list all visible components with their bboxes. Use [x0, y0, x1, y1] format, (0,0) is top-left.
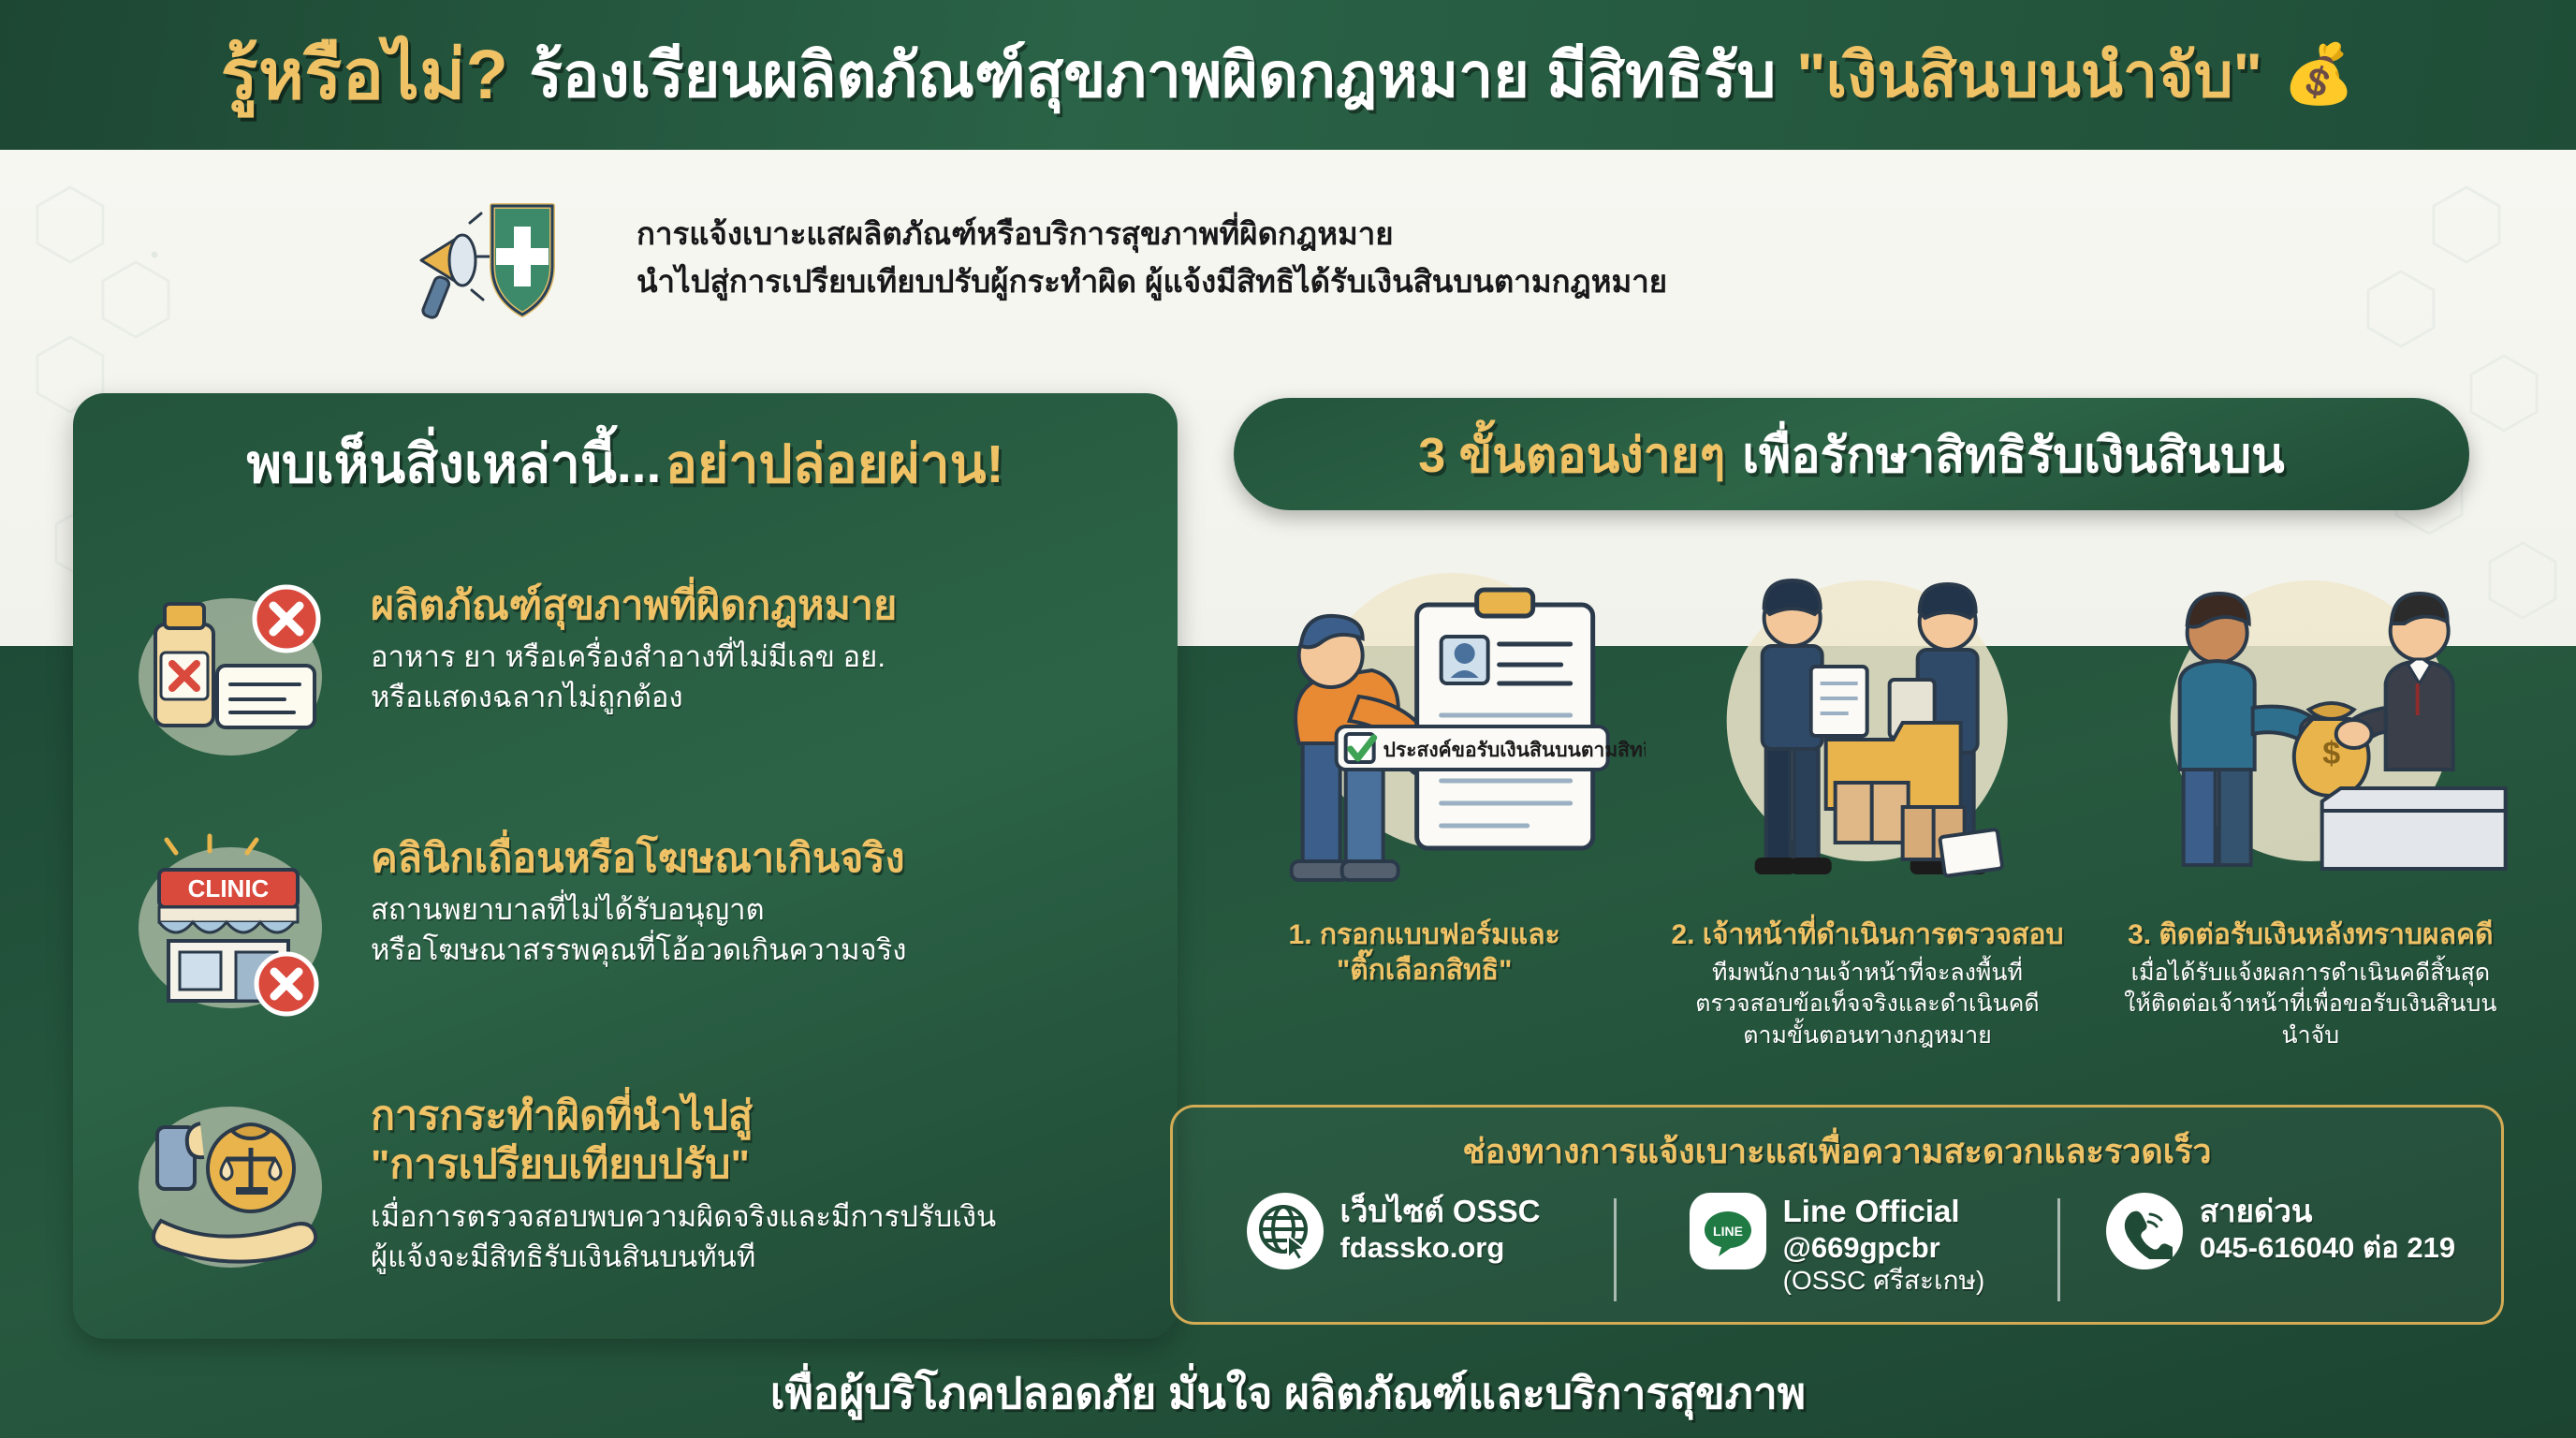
- intro-section: การแจ้งเบาะแสผลิตภัณฑ์หรือบริการสุขภาพที…: [402, 187, 2181, 328]
- contact-hotline[interactable]: สายด่วน 045-616040 ต่อ 219: [2060, 1193, 2501, 1269]
- step-3-body-line-2: ให้ติดต่อเจ้าหน้าที่เพื่อขอรับเงินสินบนน…: [2089, 989, 2532, 1052]
- line-app-icon: LINE: [1690, 1193, 1766, 1269]
- left-title-white: พบเห็นสิ่งเหล่านี้...: [246, 434, 661, 494]
- contact-hotline-text: สายด่วน 045-616040 ต่อ 219: [2200, 1193, 2455, 1265]
- money-bag-icon: 💰: [2283, 46, 2355, 104]
- issue-3-heading-line-1: การกระทำผิดที่นำไปสู่: [371, 1092, 1149, 1140]
- svg-text:LINE: LINE: [1713, 1224, 1743, 1239]
- steps-title-pill: 3 ขั้นตอนง่ายๆ เพื่อรักษาสิทธิรับเงินสิน…: [1234, 398, 2469, 510]
- issue-item-3: การกระทำผิดที่นำไปสู่ "การเปรียบเทียบปรั…: [120, 1086, 1149, 1283]
- header-highlight: รู้หรือไม่?: [221, 40, 508, 110]
- left-title-gold: อย่าปล่อยผ่าน!: [666, 434, 1004, 494]
- steps-row: ประสงค์ขอรับเงินสินบนตามสิทธิ 1. กรอกแบบ…: [1203, 543, 2532, 1086]
- issue-2-body: คลินิกเถื่อนหรือโฆษณาเกินจริง สถานพยาบาล…: [371, 829, 1149, 971]
- issue-3-heading-line-2: "การเปรียบเทียบปรับ": [371, 1140, 1149, 1189]
- contact-website-text: เว็บไซต์ OSSC fdassko.org: [1340, 1193, 1541, 1265]
- issue-item-1: ผลิตภัณฑ์สุขภาพที่ผิดกฎหมาย อาหาร ยา หรื…: [120, 576, 1149, 772]
- contact-line-note: (OSSC ศรีสะเกษ): [1783, 1265, 1985, 1297]
- contact-line-text: Line Official @669gpcbr (OSSC ศรีสะเกษ): [1783, 1193, 1985, 1296]
- contact-hotline-label: สายด่วน: [2200, 1193, 2455, 1230]
- issue-item-2: CLINIC คลินิกเถื่อนหรือโฆษณาเกินจริง สถา…: [120, 829, 1149, 1025]
- step-1-heading-line-1: 1. กรอกแบบฟอร์มและ: [1281, 917, 1568, 953]
- step-1-heading-line-2: "ติ๊กเลือกสิทธิ": [1329, 953, 1519, 989]
- step-3-heading-line-1: 3. ติดต่อรับเงินหลังทราบผลคดี: [2120, 917, 2500, 953]
- steps-title-gold: 3 ขั้นตอนง่ายๆ: [1418, 416, 1725, 493]
- left-panel-title: พบเห็นสิ่งเหล่านี้... อย่าปล่อยผ่าน!: [73, 438, 1178, 492]
- issue-1-heading: ผลิตภัณฑ์สุขภาพที่ผิดกฎหมาย: [371, 581, 1149, 630]
- intro-line-1: การแจ้งเบาะแสผลิตภัณฑ์หรือบริการสุขภาพที…: [637, 210, 1667, 257]
- issue-1-line-1: อาหาร ยา หรือเครื่องสำอางที่ไม่มีเลข อย.: [371, 638, 1149, 678]
- issue-1-body: ผลิตภัณฑ์สุขภาพที่ผิดกฎหมาย อาหาร ยา หรื…: [371, 576, 1149, 718]
- contact-website-value: fdassko.org: [1340, 1230, 1541, 1265]
- contact-website[interactable]: เว็บไซต์ OSSC fdassko.org: [1173, 1193, 1614, 1269]
- step-2-body-line-2: ตรวจสอบข้อเท็จจริงและดำเนินคดี: [1686, 989, 2048, 1020]
- issue-2-line-2: หรือโฆษณาสรรพคุณที่โอ้อวดเกินความจริง: [371, 931, 1149, 971]
- warning-signs-panel: พบเห็นสิ่งเหล่านี้... อย่าปล่อยผ่าน! ผลิ…: [73, 393, 1178, 1339]
- issue-2-line-1: สถานพยาบาลที่ไม่ได้รับอนุญาต: [371, 890, 1149, 931]
- issue-1-line-2: หรือแสดงฉลากไม่ถูกต้อง: [371, 678, 1149, 718]
- step-2-body-line-3: ตามขั้นตอนทางกฎหมาย: [1734, 1020, 2001, 1052]
- header-banner: รู้หรือไม่? ร้องเรียนผลิตภัณฑ์สุขภาพผิดก…: [0, 0, 2576, 150]
- contact-box-title: ช่องทางการแจ้งเบาะแสเพื่อความสะดวกและรวด…: [1173, 1124, 2501, 1178]
- issue-3-line-2: ผู้แจ้งจะมีสิทธิรับเงินสินบนทันที: [371, 1238, 1149, 1278]
- step-2: 2. เจ้าหน้าที่ดำเนินการตรวจสอบ ทีมพนักงา…: [1646, 543, 2088, 1086]
- officers-inspection-icon: [1646, 543, 2088, 917]
- medicine-bottles-x-icon: [120, 576, 344, 772]
- contact-hotline-value: 045-616040 ต่อ 219: [2200, 1230, 2455, 1265]
- illegal-clinic-icon: CLINIC: [120, 829, 344, 1025]
- issue-3-line-1: เมื่อการตรวจสอบพบความผิดจริงและมีการปรับ…: [371, 1197, 1149, 1238]
- header-title: ร้องเรียนผลิตภัณฑ์สุขภาพผิดกฎหมาย มีสิทธ…: [529, 44, 1776, 106]
- form-checkbox-label: ประสงค์ขอรับเงินสินบนตามสิทธิ: [1383, 739, 1647, 761]
- svg-text:CLINIC: CLINIC: [188, 874, 270, 902]
- hand-money-scale-icon: [120, 1086, 344, 1283]
- contact-items-row: เว็บไซต์ OSSC fdassko.org LINE Line Offi…: [1173, 1193, 2501, 1301]
- step-2-body-line-1: ทีมพนักงานเจ้าหน้าที่จะลงพื้นที่: [1703, 958, 2032, 990]
- money-handover-icon: $: [2089, 543, 2532, 917]
- steps-title-white: เพื่อรักษาสิทธิรับเงินสินบน: [1742, 416, 2284, 493]
- contact-website-label: เว็บไซต์ OSSC: [1340, 1193, 1541, 1230]
- issue-2-heading: คลินิกเถื่อนหรือโฆษณาเกินจริง: [371, 834, 1149, 883]
- contact-channels-box: ช่องทางการแจ้งเบาะแสเพื่อความสะดวกและรวด…: [1170, 1105, 2504, 1325]
- step-3: $ 3. ติดต่อรับเงินหลังทราบผลคดี เมื่อได้…: [2089, 543, 2532, 1086]
- contact-line-label: Line Official: [1783, 1193, 1985, 1230]
- step-1: ประสงค์ขอรับเงินสินบนตามสิทธิ 1. กรอกแบบ…: [1203, 543, 1646, 1086]
- megaphone-shield-icon: [402, 187, 599, 328]
- contact-line[interactable]: LINE Line Official @669gpcbr (OSSC ศรีสะ…: [1617, 1193, 2057, 1296]
- footer-banner: เพื่อผู้บริโภคปลอดภัย มั่นใจ ผลิตภัณฑ์แล…: [0, 1348, 2576, 1438]
- step-3-body-line-1: เมื่อได้รับแจ้งผลการดำเนินคดีสิ้นสุด: [2122, 958, 2499, 990]
- intro-text: การแจ้งเบาะแสผลิตภัณฑ์หรือบริการสุขภาพที…: [637, 210, 1667, 305]
- intro-line-2: นำไปสู่การเปรียบเทียบปรับผู้กระทำผิด ผู้…: [637, 257, 1667, 305]
- header-quoted-term: "เงินสินบนนำจับ": [1796, 44, 2262, 106]
- phone-icon: [2106, 1193, 2183, 1269]
- step-2-heading-line-1: 2. เจ้าหน้าที่ดำเนินการตรวจสอบ: [1663, 917, 2071, 953]
- globe-cursor-icon: [1247, 1193, 1324, 1269]
- footer-text: เพื่อผู้บริโภคปลอดภัย มั่นใจ ผลิตภัณฑ์แล…: [770, 1359, 1806, 1428]
- person-form-clipboard-icon: ประสงค์ขอรับเงินสินบนตามสิทธิ: [1203, 543, 1646, 917]
- contact-line-value: @669gpcbr: [1783, 1230, 1985, 1265]
- issue-3-body: การกระทำผิดที่นำไปสู่ "การเปรียบเทียบปรั…: [371, 1086, 1149, 1277]
